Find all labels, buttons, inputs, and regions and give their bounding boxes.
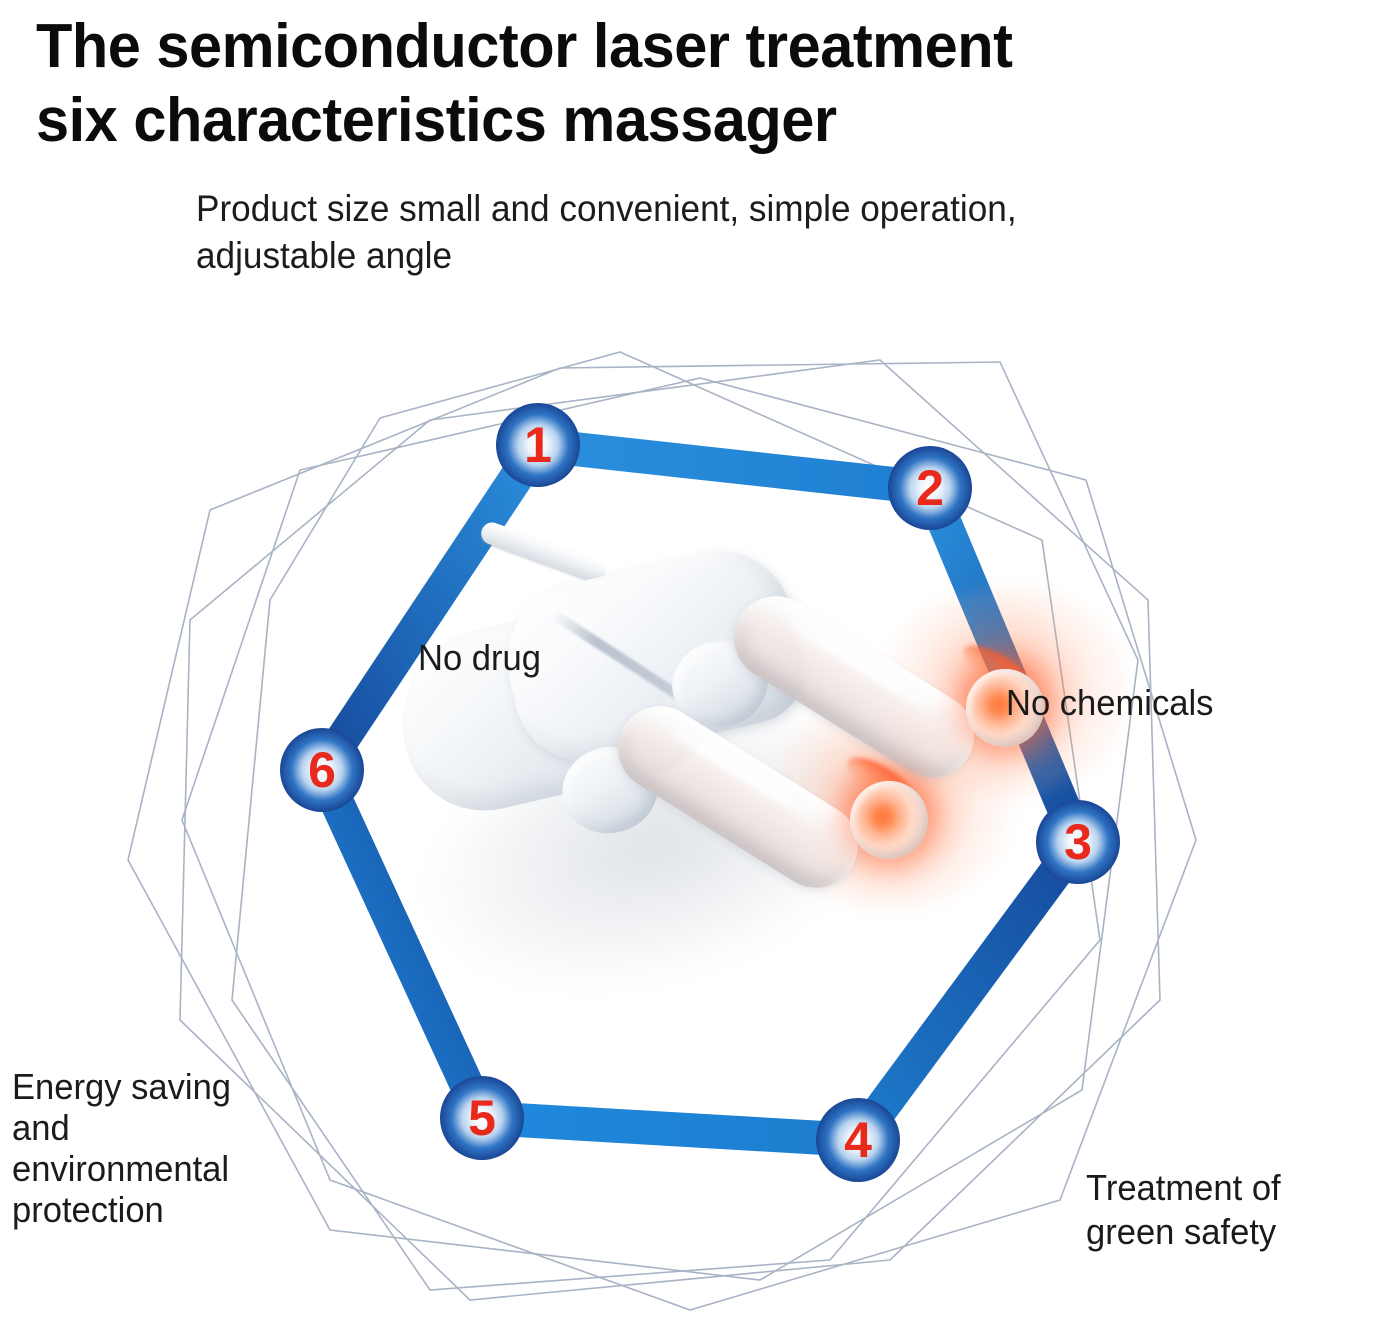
hex-node-4[interactable]: 4 <box>816 1098 900 1182</box>
feature-label-2: No chemicals <box>1006 681 1213 725</box>
infographic-page: The semiconductor laser treatment six ch… <box>0 0 1400 1338</box>
page-subtitle: Product size small and convenient, simpl… <box>196 185 1289 279</box>
node-number-5: 5 <box>468 1090 496 1146</box>
page-title: The semiconductor laser treatment six ch… <box>36 10 1332 158</box>
hex-node-2[interactable]: 2 <box>888 446 972 530</box>
node-number-1: 1 <box>524 417 552 473</box>
feature-label-3: Treatment of green safety <box>1086 1166 1281 1254</box>
hex-node-3[interactable]: 3 <box>1036 800 1120 884</box>
feature-label-6: Energy saving and environmental protecti… <box>12 1066 231 1230</box>
node-number-6: 6 <box>308 742 336 798</box>
hexagon-diagram: 1 2 3 4 5 6 No drug <box>0 300 1400 1338</box>
hex-node-6[interactable]: 6 <box>280 728 364 812</box>
feature-label-1: No drug <box>418 636 541 680</box>
hex-node-1[interactable]: 1 <box>496 403 580 487</box>
node-number-3: 3 <box>1064 814 1092 870</box>
hex-node-5[interactable]: 5 <box>440 1076 524 1160</box>
node-number-4: 4 <box>844 1112 872 1168</box>
node-number-2: 2 <box>916 460 944 516</box>
